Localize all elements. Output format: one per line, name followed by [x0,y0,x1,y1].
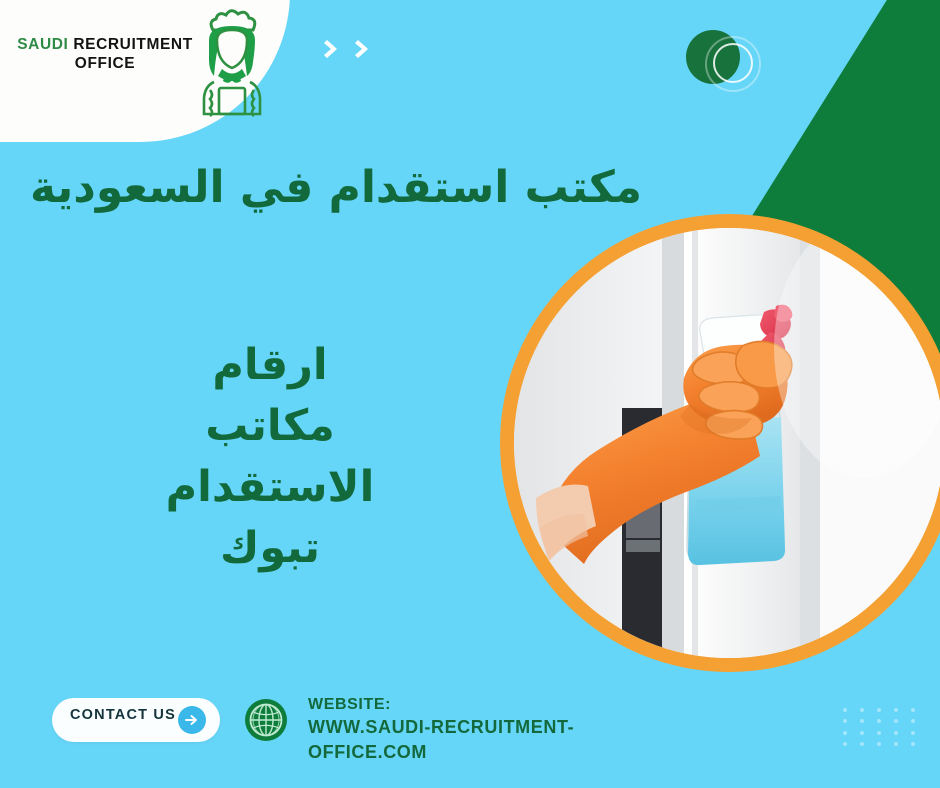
logo-line-1: SAUDI RECRUITMENT [14,36,196,55]
website-info[interactable]: WEBSITE: WWW.SAUDI-RECRUITMENT- OFFICE.C… [308,694,648,764]
poster-canvas: SAUDI RECRUITMENT OFFICE [0,0,940,788]
page-title: مكتب استقدام في السعودية [0,162,660,213]
main-line-4: تبوك [60,518,480,579]
brand-logo[interactable]: SAUDI RECRUITMENT OFFICE [0,0,300,140]
photo-ring-frame [500,214,940,672]
double-chevron-right-icon [320,36,373,62]
main-line-3: الاستقدام [60,457,480,518]
arrow-right-icon[interactable] [178,706,206,734]
logo-line-2: OFFICE [14,55,196,74]
gloved-hand-spray-bottle-photo [514,228,940,658]
website-label: WEBSITE: [308,694,648,715]
contact-us-button[interactable]: CONTACT US [52,698,220,742]
contact-us-label: CONTACT US [70,706,180,726]
main-line-2: مكاتب [60,396,480,457]
chevron-right-icon-1 [320,36,342,62]
chevron-right-icon-2 [351,36,373,62]
logo-wordmark: SAUDI RECRUITMENT OFFICE [14,36,196,74]
logo-brand-recruitment: RECRUITMENT [68,36,192,53]
main-line-1: ارقام [60,335,480,396]
photo-illustration [514,228,940,658]
website-url-line-2: OFFICE.COM [308,740,648,764]
main-arabic-text: ارقام مكاتب الاستقدام تبوك [60,335,480,579]
website-url-line-1: WWW.SAUDI-RECRUITMENT- [308,715,648,739]
logo-brand-saudi: SAUDI [17,36,68,53]
decor-dot-grid [836,704,922,750]
maid-housekeeper-icon [186,6,278,118]
globe-icon [244,698,288,742]
decor-ring-inner [713,43,753,83]
